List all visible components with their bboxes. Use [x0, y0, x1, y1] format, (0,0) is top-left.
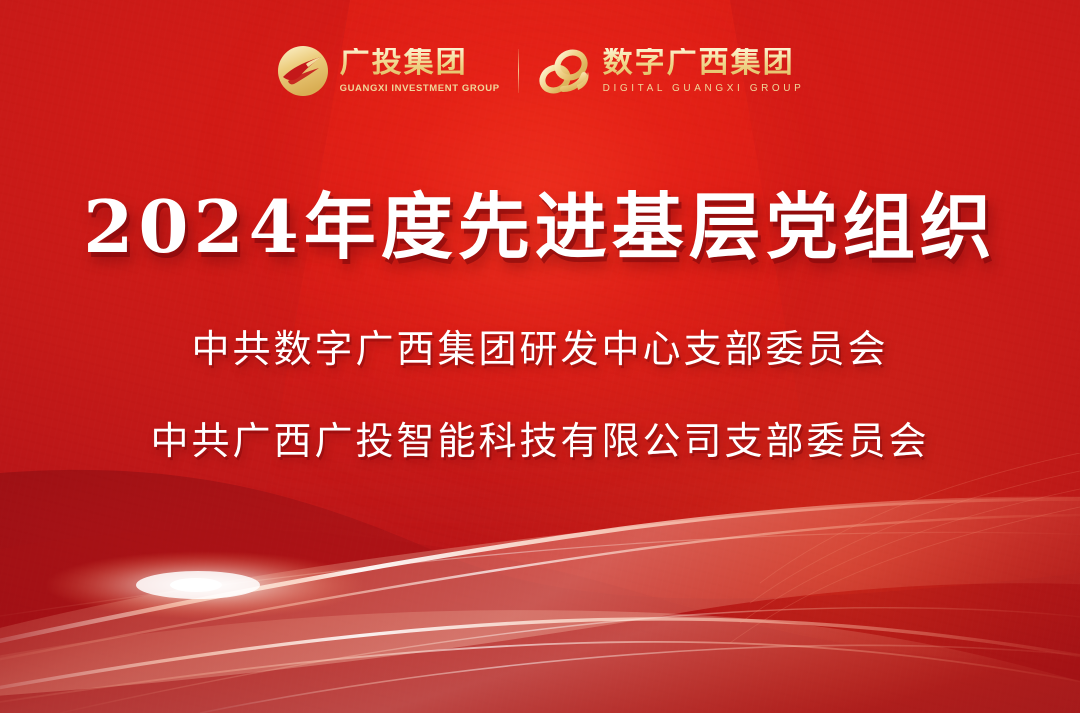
guangxi-investment-group-emblem-icon — [276, 44, 330, 98]
digital-guangxi-group-emblem-icon — [537, 45, 593, 97]
logo-guangxi-investment-group: 广投集团 GUANGXI INVESTMENT GROUP — [276, 44, 500, 98]
logo-bar: 广投集团 GUANGXI INVESTMENT GROUP — [0, 38, 1080, 104]
logo-digital-guangxi-group: 数字广西集团 DIGITAL GUANGXI GROUP — [537, 45, 805, 97]
logo-name-en: DIGITAL GUANGXI GROUP — [603, 84, 805, 94]
light-streak-ribbon-graphic — [0, 453, 1080, 713]
award-poster: 广投集团 GUANGXI INVESTMENT GROUP — [0, 0, 1080, 713]
logo-divider — [518, 49, 519, 93]
logo-name-cn: 数字广西集团 — [603, 48, 805, 78]
guangxi-investment-group-wordmark: 广投集团 GUANGXI INVESTMENT GROUP — [340, 48, 500, 94]
logo-name-en: GUANGXI INVESTMENT GROUP — [340, 84, 500, 94]
poster-subtitle-1: 中共数字广西集团研发中心支部委员会 — [0, 318, 1080, 373]
digital-guangxi-group-wordmark: 数字广西集团 DIGITAL GUANGXI GROUP — [603, 48, 805, 94]
logo-name-cn: 广投集团 — [340, 48, 500, 78]
poster-headline: 2024年度先进基层党组织 — [0, 168, 1080, 273]
light-streak-ribbon — [0, 453, 1080, 713]
